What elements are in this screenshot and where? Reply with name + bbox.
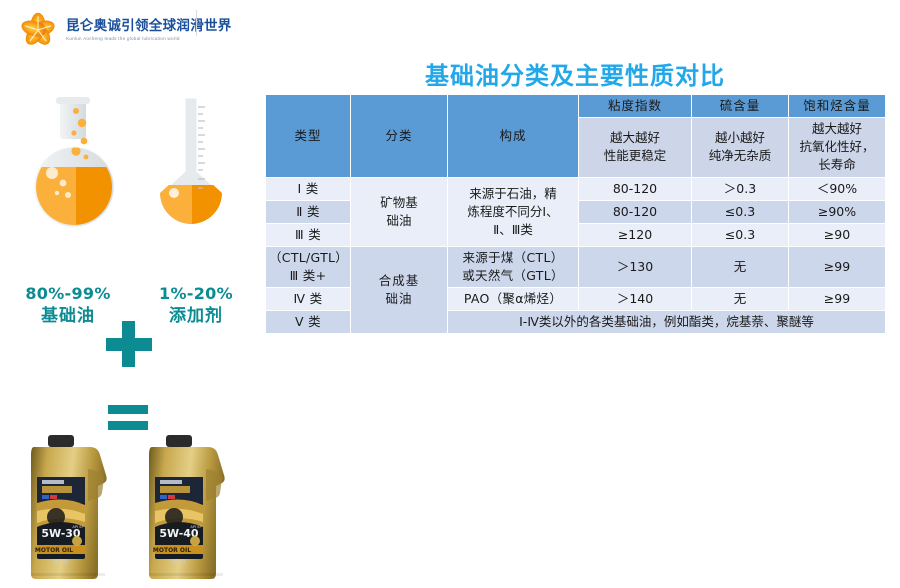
cell-type: Ⅰ 类: [266, 177, 351, 200]
cell-composition-class5: Ⅰ-Ⅳ类以外的各类基础油，例如酯类，烷基萘、聚醚等: [448, 311, 886, 334]
cell-saturates: ≥99: [789, 288, 886, 311]
additive-ratio: 1%-20% 添加剂: [140, 283, 252, 328]
cell-sulfur: 无: [692, 288, 789, 311]
header-composition: 构成: [448, 95, 579, 178]
logo-title: 昆仑奥诚引领全球润滑世界: [66, 19, 232, 35]
cell-viscosity: 80-120: [579, 200, 692, 223]
header-viscosity-index: 粘度指数: [579, 95, 692, 118]
subheader-saturates-note: 越大越好抗氧化性好，长寿命: [789, 118, 886, 177]
cell-type: Ⅴ 类: [266, 311, 351, 334]
cell-composition: 来源于煤（CTL）或天然气（GTL）: [448, 246, 579, 287]
additive-label: 添加剂: [140, 305, 252, 328]
svg-text:NET 4L: NET 4L: [54, 559, 69, 564]
cell-saturates: ≥99: [789, 246, 886, 287]
page-title: 基础油分类及主要性质对比: [265, 56, 885, 91]
cell-viscosity: ≥120: [579, 223, 692, 246]
cell-viscosity: ＞130: [579, 246, 692, 287]
table-row: Ⅰ 类 矿物基础油 来源于石油，精炼程度不同分Ⅰ、Ⅱ、Ⅲ类 80-120 ＞0.…: [266, 177, 886, 200]
additive-percent: 1%-20%: [140, 283, 252, 305]
equals-sign: [108, 405, 148, 431]
brand-logo: 昆仑奥诚引领全球润滑世界 Kunlun Aocheng leads the gl…: [18, 8, 248, 52]
volumetric-flask-icon: [148, 93, 243, 235]
header-saturates-content: 饱和烃含量: [789, 95, 886, 118]
logo-divider: [196, 10, 197, 36]
base-oil-label: 基础油: [8, 305, 128, 328]
cell-group-synthetic: 合成基础油: [351, 246, 448, 334]
cell-sulfur: ≤0.3: [692, 200, 789, 223]
cell-sulfur: ＞0.3: [692, 177, 789, 200]
subheader-sulfur-note: 越小越好纯净无杂质: [692, 118, 789, 177]
motor-oil-bottle-5w40: 5W-40 API SP MOTOR OIL NET 4L: [140, 433, 240, 583]
motor-oil-bottle-5w30: 5W-30 API SP MOTOR OIL NET 4L: [22, 433, 122, 583]
cell-sulfur: ≤0.3: [692, 223, 789, 246]
cell-composition: PAO（聚α烯烃）: [448, 288, 579, 311]
base-oil-ratio: 80%-99% 基础油: [8, 283, 128, 328]
plus-sign: [106, 321, 152, 367]
cell-group-mineral: 矿物基础油: [351, 177, 448, 246]
svg-text:API SP: API SP: [72, 525, 84, 529]
cell-saturates: ≥90: [789, 223, 886, 246]
cell-composition-mineral: 来源于石油，精炼程度不同分Ⅰ、Ⅱ、Ⅲ类: [448, 177, 579, 246]
base-oil-percent: 80%-99%: [8, 283, 128, 305]
svg-text:API SP: API SP: [190, 525, 202, 529]
cell-type: Ⅲ 类: [266, 223, 351, 246]
petro-flower-icon: [18, 10, 58, 50]
svg-text:MOTOR OIL: MOTOR OIL: [35, 547, 73, 554]
cell-type: （CTL/GTL）Ⅲ 类+: [266, 246, 351, 287]
oil-composition-illustration: 80%-99% 基础油 1%-20% 添加剂: [0, 85, 262, 510]
cell-sulfur: 无: [692, 246, 789, 287]
cell-type: Ⅱ 类: [266, 200, 351, 223]
svg-text:MOTOR OIL: MOTOR OIL: [153, 547, 191, 554]
cell-saturates: ＜90%: [789, 177, 886, 200]
base-oil-spec-table: 类型 分类 构成 粘度指数 硫含量 饱和烃含量 越大越好性能更稳定 越小越好纯净…: [265, 94, 885, 506]
subheader-viscosity-note: 越大越好性能更稳定: [579, 118, 692, 177]
header-category: 分类: [351, 95, 448, 178]
round-bottom-flask-icon: [22, 95, 132, 235]
cell-viscosity: ＞140: [579, 288, 692, 311]
table-row: （CTL/GTL）Ⅲ 类+ 合成基础油 来源于煤（CTL）或天然气（GTL） ＞…: [266, 246, 886, 287]
logo-subtitle: Kunlun Aocheng leads the global lubricat…: [66, 36, 232, 41]
header-type: 类型: [266, 95, 351, 178]
svg-text:NET 4L: NET 4L: [172, 559, 187, 564]
table-header-row: 类型 分类 构成 粘度指数 硫含量 饱和烃含量: [266, 95, 886, 118]
cell-viscosity: 80-120: [579, 177, 692, 200]
header-sulfur-content: 硫含量: [692, 95, 789, 118]
cell-saturates: ≥90%: [789, 200, 886, 223]
cell-type: Ⅳ 类: [266, 288, 351, 311]
